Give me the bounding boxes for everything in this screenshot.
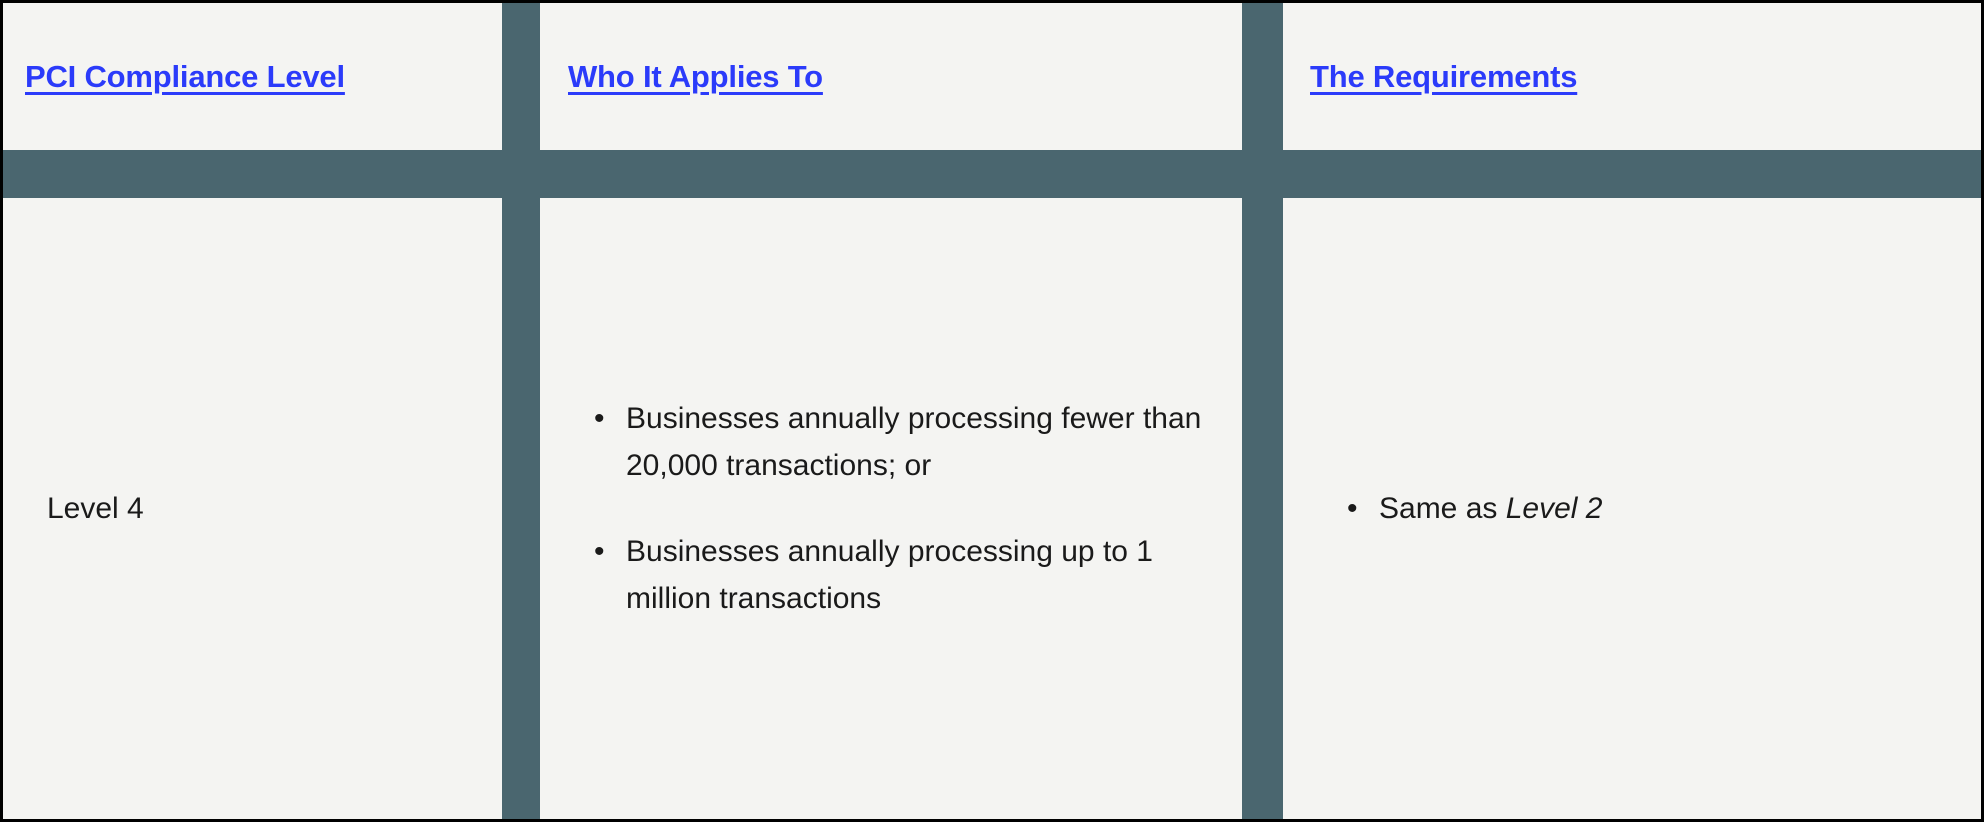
pci-compliance-table: PCI Compliance Level Who It Applies To T… [0,0,1984,822]
applies-to-item-text: Businesses annually processing fewer tha… [626,402,1201,482]
requirement-item-emphasis: Level 2 [1506,492,1603,525]
requirements-list: Same as Level 2 [1323,485,1944,532]
header-cell-the-requirements: The Requirements [1283,3,1984,150]
body-cell-who-it-applies-to: Businesses annually processing fewer tha… [540,198,1242,819]
requirement-item-prefix: Same as [1379,492,1506,525]
list-item: Same as Level 2 [1379,485,1944,532]
body-cell-pci-compliance-level: Level 4 [3,198,502,819]
header-cell-pci-compliance-level: PCI Compliance Level [3,3,502,150]
header-cell-who-it-applies-to: Who It Applies To [540,3,1242,150]
header-link-who-it-applies-to[interactable]: Who It Applies To [568,59,823,95]
header-link-pci-compliance-level[interactable]: PCI Compliance Level [25,59,345,95]
column-divider-1 [502,3,540,819]
body-cell-the-requirements: Same as Level 2 [1283,198,1984,819]
header-link-the-requirements[interactable]: The Requirements [1310,59,1577,95]
list-item: Businesses annually processing fewer tha… [626,395,1202,490]
applies-to-item-text: Businesses annually processing up to 1 m… [626,535,1153,615]
applies-to-list: Businesses annually processing fewer tha… [570,395,1202,623]
compliance-level-value: Level 4 [47,487,144,531]
header-body-divider [3,150,1981,198]
column-divider-2 [1242,3,1283,819]
list-item: Businesses annually processing up to 1 m… [626,528,1202,623]
